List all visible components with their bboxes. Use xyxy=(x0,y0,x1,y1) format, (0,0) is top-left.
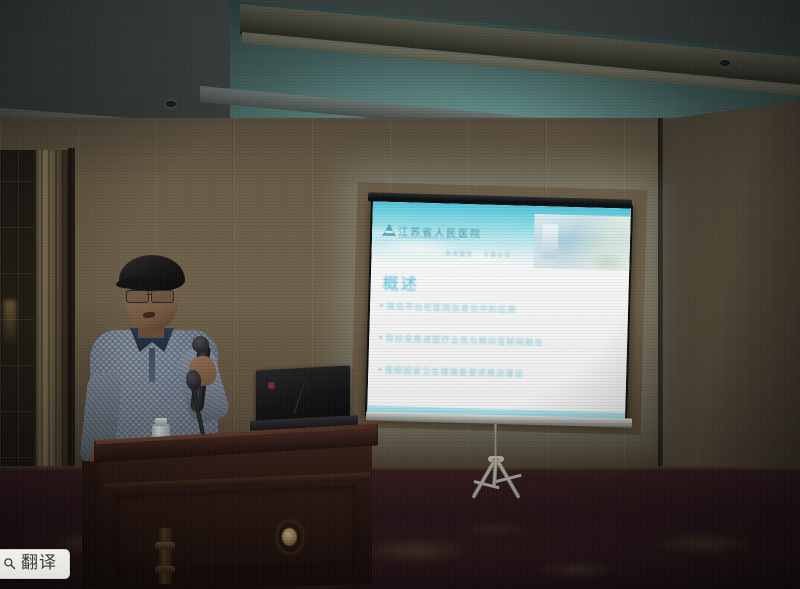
downlight-icon xyxy=(720,60,730,66)
lectern-column xyxy=(158,528,172,584)
list-item: 按照国家卫生健康委要求推进建设 xyxy=(378,364,618,383)
glasses-lens-left xyxy=(126,290,149,303)
shirt-placket xyxy=(149,348,155,382)
wall-lamp-glow xyxy=(4,300,16,344)
presenter-glasses xyxy=(126,290,178,301)
projection-screen: 江苏省人民医院 JIANGSU PROVINCE HOSPITAL 学术报告 ·… xyxy=(365,198,633,423)
lectern-column-ring xyxy=(155,566,175,573)
lectern xyxy=(82,432,378,589)
glasses-bridge xyxy=(147,294,152,295)
right-side-wall xyxy=(662,101,800,520)
hospital-logo-icon xyxy=(382,224,396,236)
translate-button[interactable]: 翻译 xyxy=(0,549,70,579)
lectern-front-panel xyxy=(116,485,356,574)
slide-bullet-list: 微信平台在医院信息化中的应用 目标是推进医疗业务与移动互联网融合 按照国家卫生健… xyxy=(378,300,621,403)
photo-scene: 江苏省人民医院 JIANGSU PROVINCE HOSPITAL 学术报告 ·… xyxy=(0,0,800,589)
laptop-logo-icon xyxy=(268,382,275,389)
projection-screen-assembly: 江苏省人民医院 JIANGSU PROVINCE HOSPITAL 学术报告 ·… xyxy=(366,196,634,496)
bullet-dot-icon xyxy=(379,336,382,339)
bullet-text: 目标是推进医疗业务与移动互联网融合 xyxy=(386,332,544,348)
translate-button-label: 翻译 xyxy=(21,555,57,572)
lectern-column-ring xyxy=(155,542,175,549)
downlight-icon xyxy=(166,101,176,107)
glasses-lens-right xyxy=(151,290,174,303)
slide-title: 概述 xyxy=(382,270,419,295)
banner-building-photo xyxy=(533,214,630,271)
lectern-emblem-inner xyxy=(282,528,297,546)
list-item: 目标是推进医疗业务与移动互联网融合 xyxy=(379,332,619,351)
bullet-text: 按照国家卫生健康委要求推进建设 xyxy=(385,364,525,380)
wall-corner-edge xyxy=(658,118,663,518)
bullet-dot-icon xyxy=(378,368,381,371)
bottle-cap xyxy=(155,418,167,426)
list-item: 微信平台在医院信息化中的应用 xyxy=(380,300,620,319)
screen-canvas: 江苏省人民医院 JIANGSU PROVINCE HOSPITAL 学术报告 ·… xyxy=(367,201,631,420)
tripod-center-pole xyxy=(494,424,497,460)
bullet-text: 微信平台在医院信息化中的应用 xyxy=(386,300,516,316)
bullet-dot-icon xyxy=(380,304,383,307)
powerpoint-slide: 江苏省人民医院 JIANGSU PROVINCE HOSPITAL 学术报告 ·… xyxy=(367,201,631,420)
search-icon xyxy=(3,557,16,570)
